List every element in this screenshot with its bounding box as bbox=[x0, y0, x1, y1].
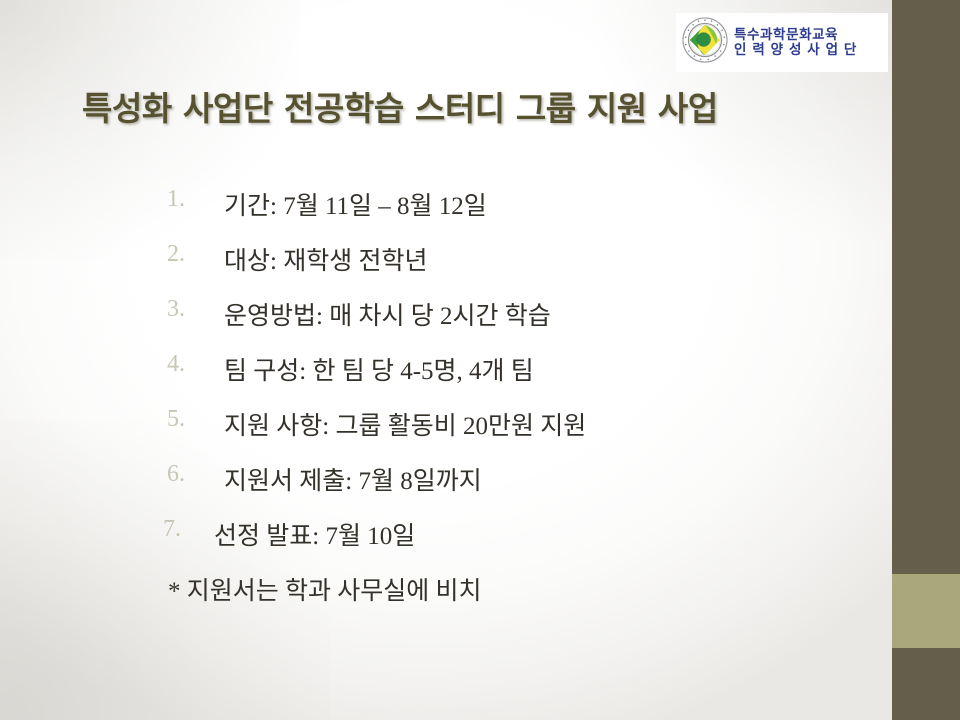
list-item-label: 지원 사항: 그룹 활동비 20만원 지원 bbox=[224, 406, 586, 442]
content-list: 1. 기간: 7월 11일 – 8월 12일 2. 대상: 재학생 전학년 3.… bbox=[0, 186, 892, 571]
list-item-label: 기간: 7월 11일 – 8월 12일 bbox=[224, 186, 487, 222]
footnote: * 지원서는 학과 사무실에 비치 bbox=[168, 571, 482, 607]
sidebar-color-bars bbox=[892, 0, 960, 720]
sidebar-bar-bottom bbox=[892, 648, 960, 720]
university-seal-icon bbox=[682, 17, 728, 68]
list-item: 2. 대상: 재학생 전학년 bbox=[0, 241, 892, 296]
list-item: 4. 팀 구성: 한 팀 당 4-5명, 4개 팀 bbox=[0, 351, 892, 406]
list-item: 1. 기간: 7월 11일 – 8월 12일 bbox=[0, 186, 892, 241]
list-item-label: 지원서 제출: 7월 8일까지 bbox=[224, 461, 482, 497]
sidebar-bar-accent bbox=[892, 574, 960, 648]
list-item: 3. 운영방법: 매 차시 당 2시간 학습 bbox=[0, 296, 892, 351]
sidebar-bar-top bbox=[892, 0, 960, 574]
list-item-label: 팀 구성: 한 팀 당 4-5명, 4개 팀 bbox=[224, 351, 534, 387]
list-item-number: 4. bbox=[167, 351, 201, 378]
presentation-slide: 특수과학문화교육 인 력 양 성 사 업 단 특성화 사업단 전공학습 스터디 … bbox=[0, 0, 960, 720]
list-item: 6. 지원서 제출: 7월 8일까지 bbox=[0, 461, 892, 516]
list-item-number: 1. bbox=[167, 186, 201, 213]
logo-wordmark-line2: 인 력 양 성 사 업 단 bbox=[734, 43, 857, 58]
page-title: 특성화 사업단 전공학습 스터디 그룹 지원 사업 bbox=[82, 82, 842, 130]
list-item-number: 7. bbox=[163, 516, 197, 543]
list-item-number: 5. bbox=[167, 406, 201, 433]
list-item-label: 운영방법: 매 차시 당 2시간 학습 bbox=[224, 296, 551, 332]
list-item-number: 3. bbox=[167, 296, 201, 323]
list-item-number: 2. bbox=[167, 241, 201, 268]
logo-wordmark-line1: 특수과학문화교육 bbox=[734, 28, 857, 43]
logo-lockup: 특수과학문화교육 인 력 양 성 사 업 단 bbox=[676, 13, 888, 72]
logo-wordmark: 특수과학문화교육 인 력 양 성 사 업 단 bbox=[734, 28, 857, 57]
list-item-label: 선정 발표: 7월 10일 bbox=[214, 516, 415, 552]
list-item-number: 6. bbox=[167, 461, 201, 488]
list-item: 7. 선정 발표: 7월 10일 bbox=[0, 516, 892, 571]
list-item-label: 대상: 재학생 전학년 bbox=[224, 241, 427, 277]
list-item: 5. 지원 사항: 그룹 활동비 20만원 지원 bbox=[0, 406, 892, 461]
